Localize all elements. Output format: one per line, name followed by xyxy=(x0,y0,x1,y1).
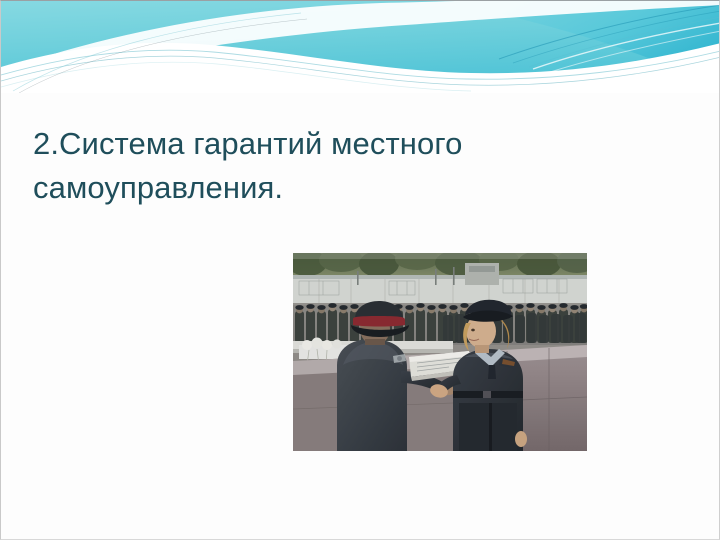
slide-title: 2.Система гарантий местного самоуправлен… xyxy=(33,122,653,210)
presentation-slide: 2.Система гарантий местного самоуправлен… xyxy=(0,0,720,540)
header-wave-decoration xyxy=(1,1,720,93)
police-award-ceremony-photo xyxy=(293,253,587,451)
slide-title-line-1: 2.Система гарантий местного xyxy=(33,122,653,166)
slide-title-line-2: самоуправления. xyxy=(33,166,653,210)
